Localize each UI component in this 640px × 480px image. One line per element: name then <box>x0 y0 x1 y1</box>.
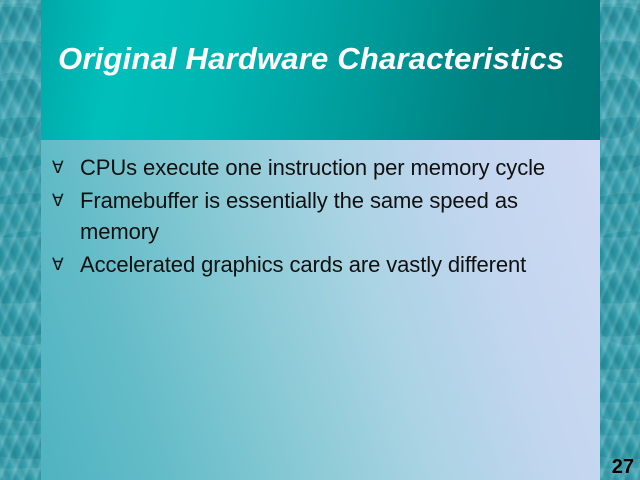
bullet-list: ∀ CPUs execute one instruction per memor… <box>49 152 597 282</box>
list-item: ∀ CPUs execute one instruction per memor… <box>49 152 597 183</box>
slide-body: ∀ CPUs execute one instruction per memor… <box>41 140 600 480</box>
list-item-text: Accelerated graphics cards are vastly di… <box>80 249 597 280</box>
list-item-text: Framebuffer is essentially the same spee… <box>80 185 597 247</box>
page-number: 27 <box>612 457 634 477</box>
list-item: ∀ Framebuffer is essentially the same sp… <box>49 185 597 247</box>
forall-bullet-icon: ∀ <box>49 249 80 280</box>
slide: Original Hardware Characteristics ∀ CPUs… <box>0 0 640 480</box>
page-title: Original Hardware Characteristics <box>58 40 598 77</box>
left-texture-border <box>0 0 41 480</box>
right-texture-border <box>600 0 640 480</box>
list-item: ∀ Accelerated graphics cards are vastly … <box>49 249 597 280</box>
title-banner: Original Hardware Characteristics <box>41 0 600 140</box>
list-item-text: CPUs execute one instruction per memory … <box>80 152 597 183</box>
forall-bullet-icon: ∀ <box>49 152 80 183</box>
forall-bullet-icon: ∀ <box>49 185 80 216</box>
